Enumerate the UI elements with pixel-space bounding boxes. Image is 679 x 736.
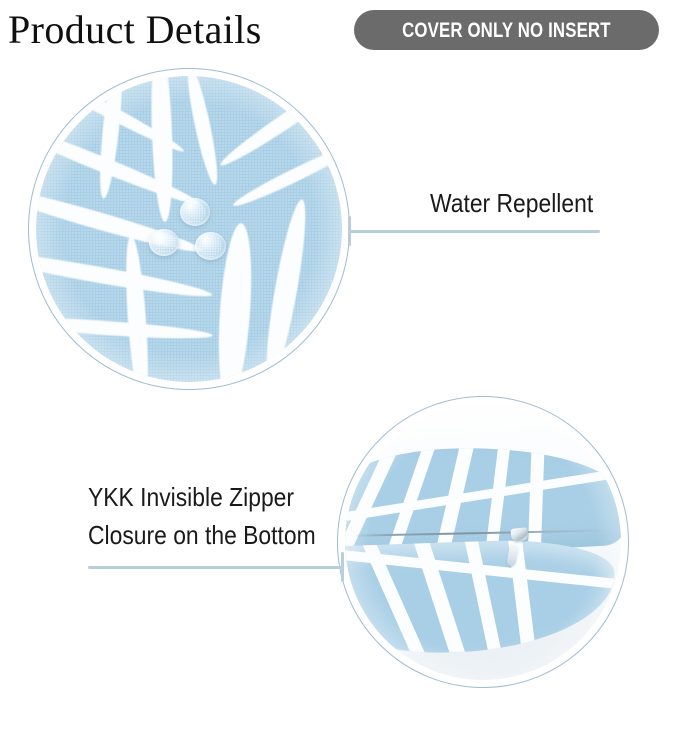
- feature-image-ykk-zipper: [345, 404, 621, 680]
- frond-stripe: [461, 537, 512, 658]
- feature-label-water-repellent: Water Repellent: [430, 186, 593, 220]
- pillow-zipper-photo: [345, 404, 621, 680]
- connector-cap-water-repellent: [348, 216, 351, 246]
- water-droplet: [149, 229, 179, 256]
- status-badge: COVER ONLY NO INSERT: [354, 10, 659, 50]
- water-droplet: [195, 232, 226, 260]
- feature-image-water-repellent: [36, 76, 342, 382]
- fabric-weave-texture: [36, 76, 342, 382]
- connector-line-ykk-zipper: [88, 566, 344, 569]
- connector-line-water-repellent: [348, 230, 600, 233]
- status-badge-label: COVER ONLY NO INSERT: [402, 20, 611, 41]
- connector-cap-ykk-zipper: [341, 552, 344, 582]
- page-title: Product Details: [8, 6, 262, 54]
- feature-label-line-1: YKK Invisible Zipper: [88, 478, 316, 516]
- page-header: Product Details COVER ONLY NO INSERT: [0, 0, 679, 64]
- feature-label-ykk-zipper: YKK Invisible Zipper Closure on the Bott…: [88, 478, 316, 554]
- fabric-closeup-photo: [36, 76, 342, 382]
- feature-label-line-2: Closure on the Bottom: [88, 516, 316, 554]
